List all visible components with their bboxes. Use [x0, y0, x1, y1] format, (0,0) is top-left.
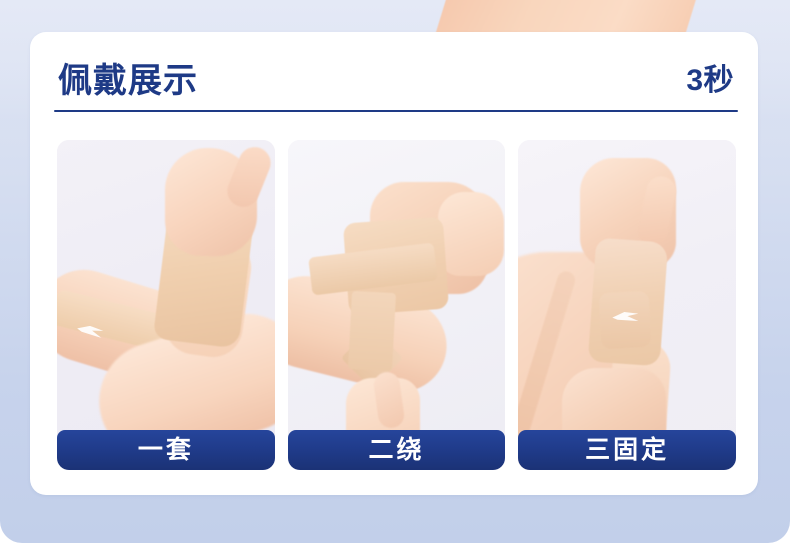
step-3-caption-text: 三固定 [585, 438, 669, 463]
step-2-photo [288, 140, 506, 470]
step-3-photo [518, 140, 736, 470]
step-2-caption-text: 二绕 [369, 438, 425, 463]
steps-gallery: 一套 二绕 [57, 140, 736, 470]
wearing-demo-card: 佩戴展示 3秒 一套 [30, 32, 758, 495]
step-1-caption-bar: 一套 [57, 430, 275, 470]
card-header: 佩戴展示 3秒 [58, 50, 736, 112]
step-1-photo [57, 140, 275, 470]
step-1-caption-text: 一套 [138, 438, 194, 463]
step-2-panel[interactable]: 二绕 [288, 140, 506, 470]
step-3-caption-bar: 三固定 [518, 430, 736, 470]
duration-badge: 3秒 [686, 66, 736, 96]
fingers-shape [438, 192, 504, 276]
header-divider [54, 110, 738, 112]
step-1-panel[interactable]: 一套 [57, 140, 275, 470]
step-2-caption-bar: 二绕 [288, 430, 506, 470]
page-title: 佩戴展示 [58, 64, 198, 98]
step-3-panel[interactable]: 三固定 [518, 140, 736, 470]
screenshot-stage: 佩戴展示 3秒 一套 [0, 0, 790, 546]
strap-hanging-shape [348, 291, 396, 371]
